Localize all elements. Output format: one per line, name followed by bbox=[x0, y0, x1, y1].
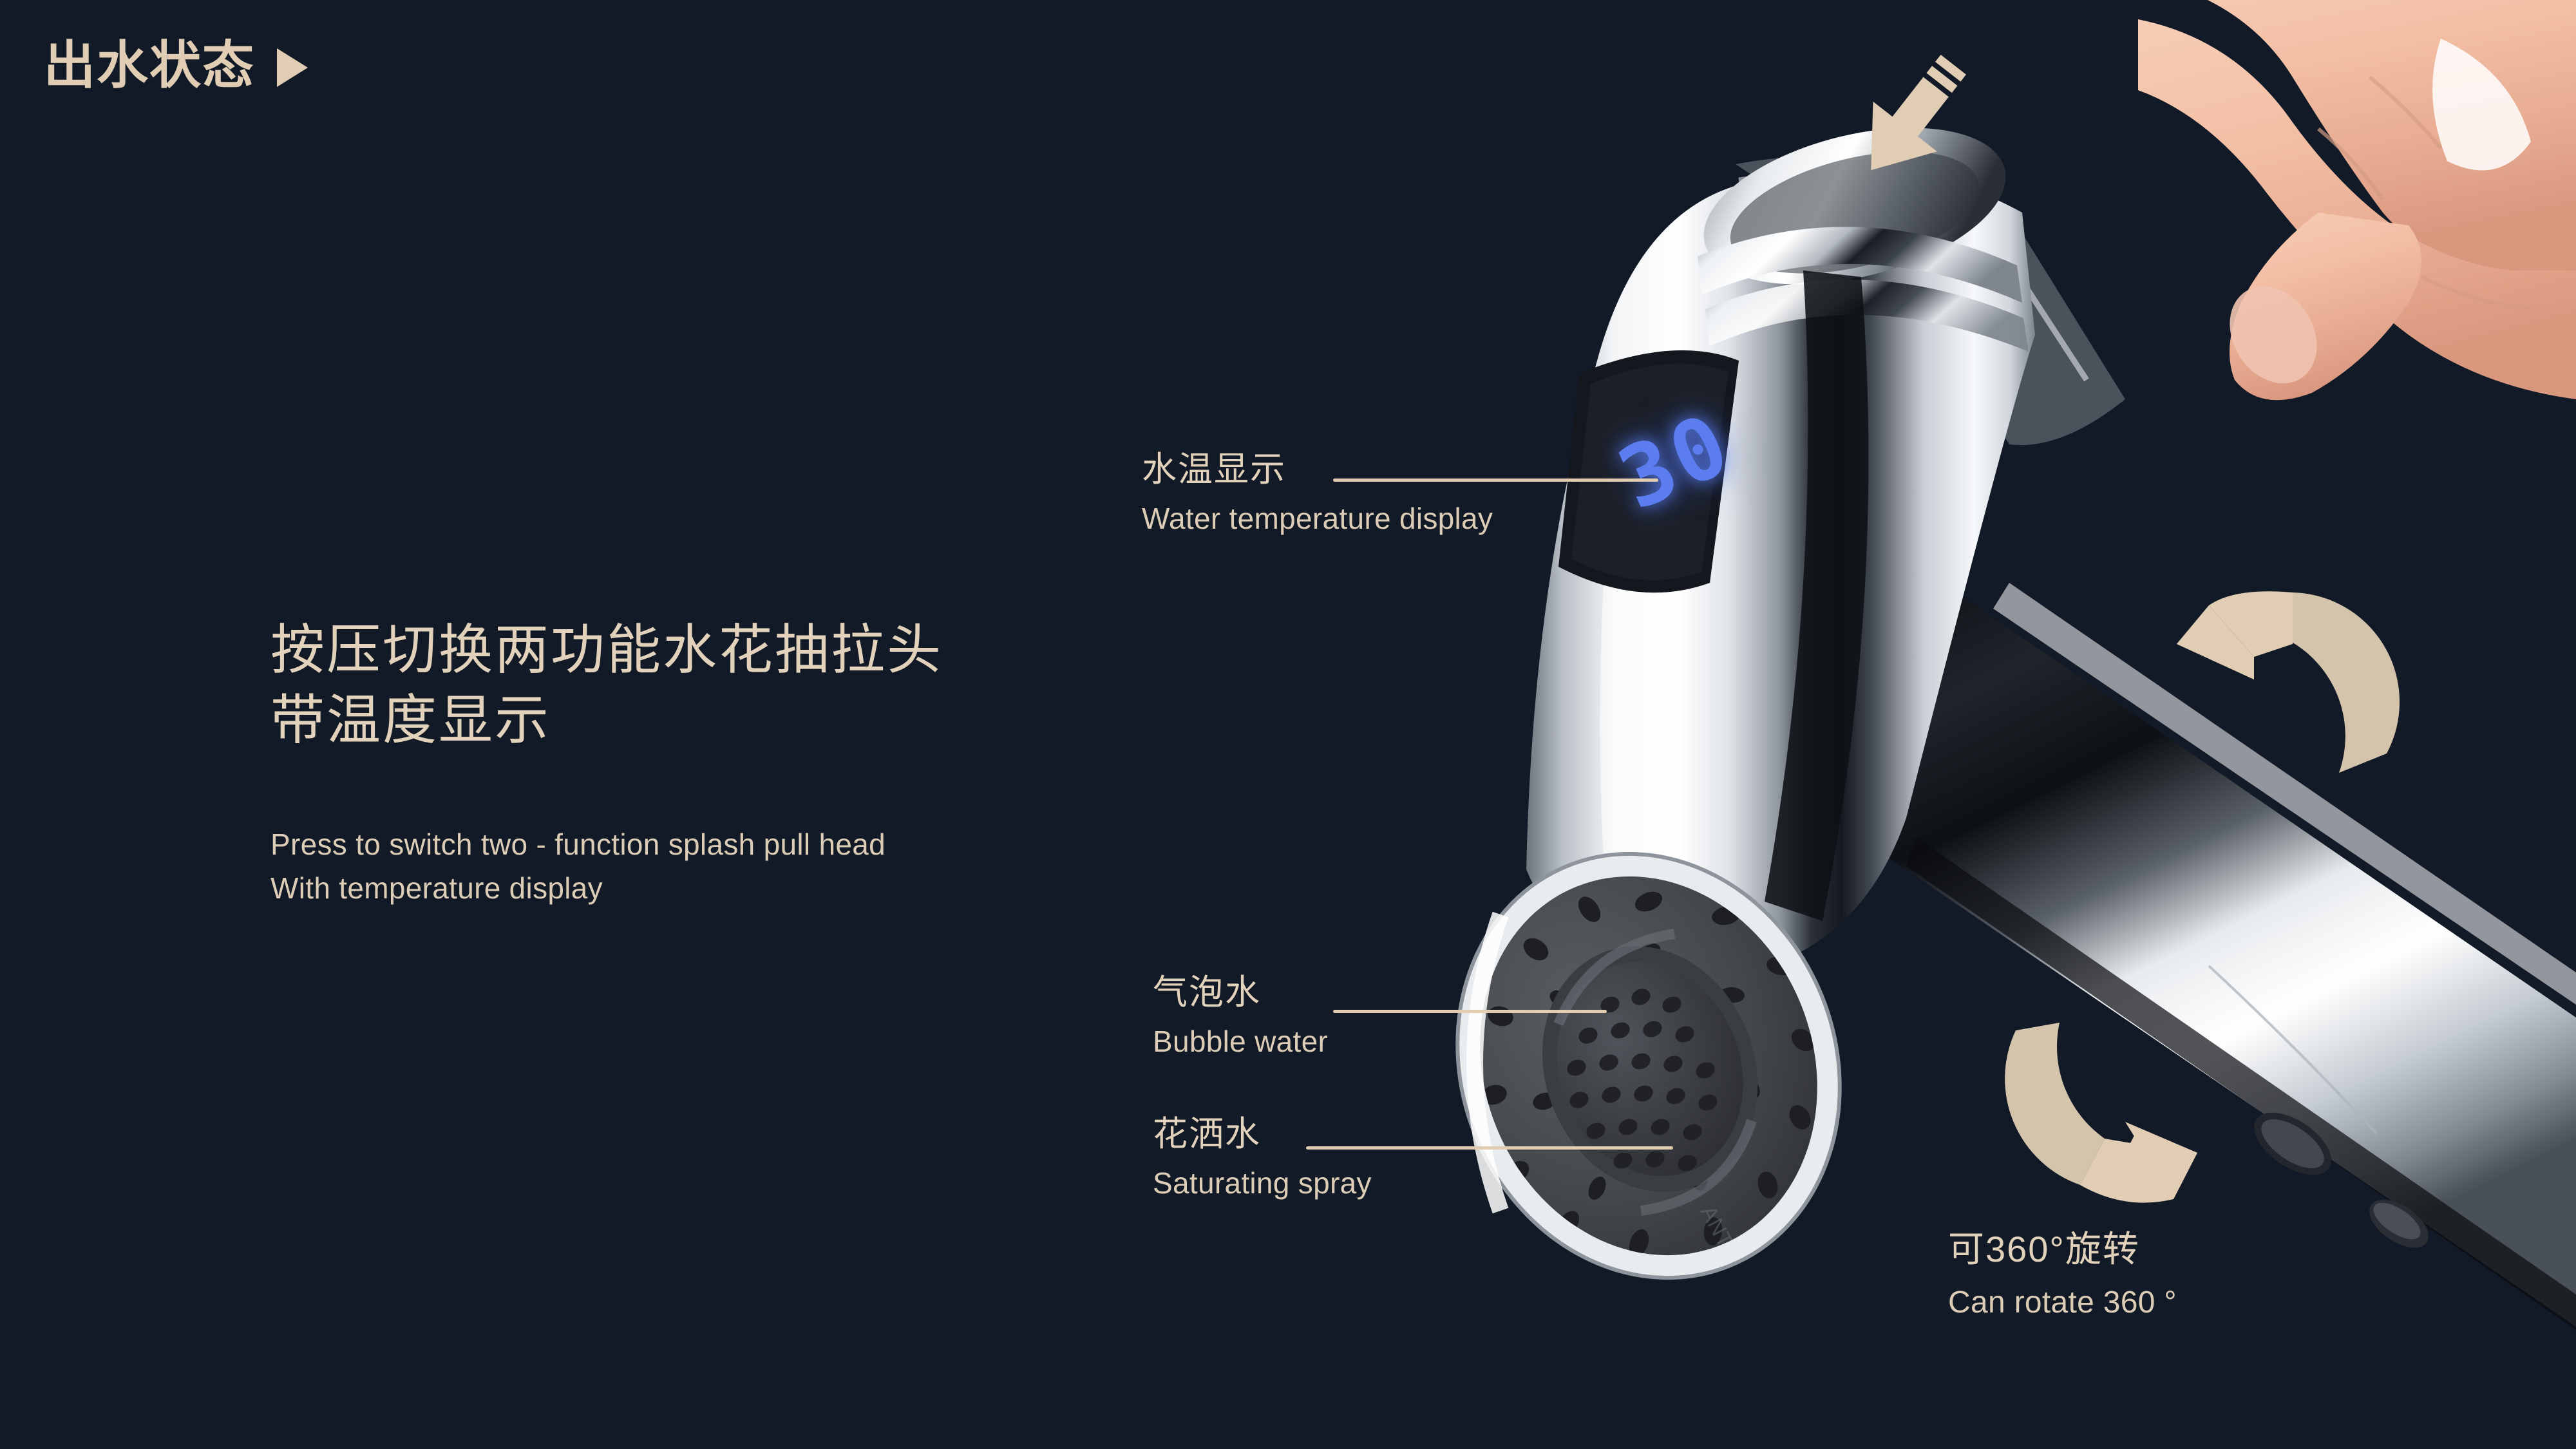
section-header: 出水状态 bbox=[44, 40, 308, 91]
callout-saturating-spray: 花洒水 Saturating spray bbox=[1153, 1115, 1372, 1200]
callout-bubble-water: 气泡水 Bubble water bbox=[1153, 974, 1328, 1059]
product-feature-slide: ANTI-LIMESCALE bbox=[0, 0, 2576, 1449]
rotate-cw-arrow-icon bbox=[2005, 1023, 2197, 1203]
hand bbox=[2125, 0, 2576, 400]
callout-en-label: Saturating spray bbox=[1153, 1167, 1372, 1200]
callout-cn-label: 水温显示 bbox=[1142, 451, 1493, 488]
lead-cn-line1: 按压切换两功能水花抽拉头 bbox=[270, 615, 1204, 685]
callout-en-label: Water temperature display bbox=[1142, 502, 1493, 536]
lead-en: Press to switch two - function splash pu… bbox=[270, 822, 1204, 910]
callout-rotate-360: 可360°旋转 Can rotate 360 ° bbox=[1948, 1230, 2177, 1320]
lead-cn-line2: 带温度显示 bbox=[270, 685, 1204, 755]
callout-water-temperature: 水温显示 Water temperature display bbox=[1142, 451, 1493, 536]
callout-cn-label: 气泡水 bbox=[1153, 974, 1328, 1011]
play-triangle-icon bbox=[277, 48, 308, 87]
lead-en-line1: Press to switch two - function splash pu… bbox=[270, 822, 1204, 866]
lead-en-line2: With temperature display bbox=[270, 866, 1204, 910]
faucet-arm bbox=[1887, 567, 2576, 1330]
page-title: 出水状态 bbox=[44, 40, 255, 91]
lead-copy: 按压切换两功能水花抽拉头 带温度显示 Press to switch two -… bbox=[270, 615, 1204, 911]
leader-line-bubble bbox=[1333, 1010, 1607, 1013]
leader-line-temperature bbox=[1333, 478, 1658, 482]
callout-en-label: Bubble water bbox=[1153, 1025, 1328, 1059]
callout-cn-label: 可360°旋转 bbox=[1948, 1230, 2177, 1269]
callout-en-label: Can rotate 360 ° bbox=[1948, 1285, 2177, 1320]
leader-line-spray bbox=[1306, 1146, 1673, 1150]
